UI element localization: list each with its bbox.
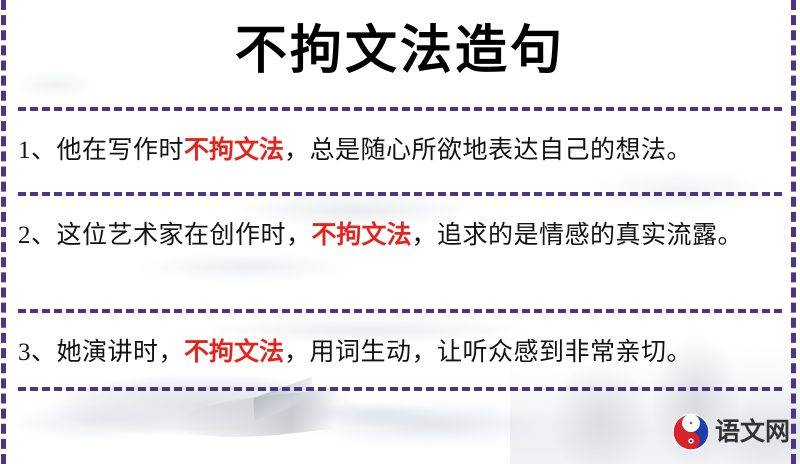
keyword-highlight-2: 不拘文法 [312, 222, 412, 249]
keyword-highlight-3: 不拘文法 [184, 339, 284, 366]
sentence-item-1: 1、他在写作时不拘文法，总是随心所欲地表达自己的想法。 [18, 126, 780, 175]
sentence-text-before-2: 这位艺术家在创作时， [57, 222, 312, 249]
divider-rule-2 [18, 192, 782, 196]
sentence-text-before-1: 他在写作时 [57, 137, 185, 164]
border-dashed-right [791, 0, 796, 464]
divider-rule-1 [18, 107, 782, 111]
sentence-number-3: 3、 [18, 339, 57, 366]
site-logo-text: 语文网 [715, 418, 790, 446]
site-logo: 语文网 [672, 413, 790, 451]
sentence-number-1: 1、 [18, 137, 57, 164]
sentence-text-after-2: ，追求的是情感的真实流露。 [412, 222, 744, 249]
keyword-highlight-1: 不拘文法 [184, 137, 284, 164]
slide-canvas: 不拘文法造句 1、他在写作时不拘文法，总是随心所欲地表达自己的想法。 2、这位艺… [0, 0, 800, 464]
sentence-item-2: 2、这位艺术家在创作时，不拘文法，追求的是情感的真实流露。 [18, 211, 780, 260]
sentence-text-after-1: ，总是随心所欲地表达自己的想法。 [284, 137, 692, 164]
border-dashed-left [1, 0, 6, 464]
sentence-number-2: 2、 [18, 222, 57, 249]
watermark-boat-sail [253, 377, 312, 421]
sentence-text-before-3: 她演讲时， [57, 339, 185, 366]
yinyang-fish-icon [672, 413, 710, 451]
sentence-text-after-3: ，用词生动，让听众感到非常亲切。 [284, 339, 692, 366]
page-title: 不拘文法造句 [0, 16, 800, 86]
watermark-boat [173, 385, 376, 446]
watermark-ridge-middle [300, 392, 630, 464]
sentence-item-3: 3、她演讲时，不拘文法，用词生动，让听众感到非常亲切。 [18, 328, 780, 377]
divider-rule-3 [18, 309, 782, 313]
divider-rule-4 [18, 387, 782, 391]
watermark-mountain-left [0, 300, 410, 464]
